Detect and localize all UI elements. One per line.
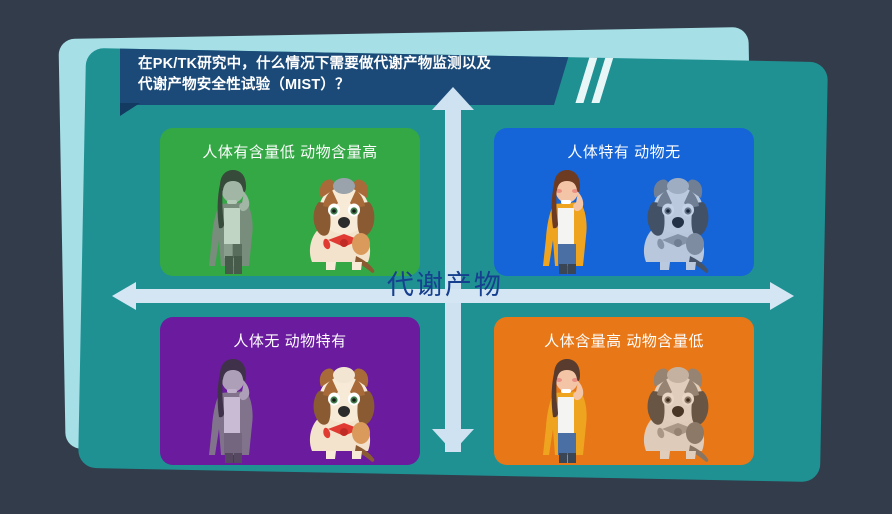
card-inner-content: 在PK/TK研究中，什么情况下需要做代谢产物监测以及 代谢产物安全性试验（MIS… — [82, 55, 824, 475]
quadrant-top-right[interactable]: 人体特有 动物无 — [494, 128, 754, 276]
animal-figure-icon — [292, 170, 396, 274]
quadrant-bottom-left-label: 人体无 动物特有 — [160, 330, 420, 351]
quadrant-bottom-right[interactable]: 人体含量高 动物含量低 — [494, 317, 754, 465]
human-figure-icon — [194, 357, 272, 465]
human-figure-icon — [528, 357, 606, 465]
human-figure-icon — [528, 168, 606, 276]
human-figure-icon — [194, 168, 272, 276]
quadrant-top-left-label: 人体有含量低 动物含量高 — [160, 141, 420, 162]
quadrant-bottom-left[interactable]: 人体无 动物特有 — [160, 317, 420, 465]
quadrant-top-left[interactable]: 人体有含量低 动物含量高 — [160, 128, 420, 276]
slide-canvas: 在PK/TK研究中，什么情况下需要做代谢产物监测以及 代谢产物安全性试验（MIS… — [0, 0, 892, 514]
animal-figure-icon — [626, 359, 730, 463]
center-axis-label: 代谢产物 — [387, 263, 503, 302]
arrow-right-icon — [770, 282, 794, 310]
quadrant-grid: 人体有含量低 动物含量高 — [82, 55, 824, 475]
quadrant-bottom-right-label: 人体含量高 动物含量低 — [494, 330, 754, 351]
animal-figure-icon — [292, 359, 396, 463]
animal-figure-icon — [626, 170, 730, 274]
arrow-left-icon — [112, 282, 136, 310]
quadrant-top-right-label: 人体特有 动物无 — [494, 141, 754, 162]
card-main-layer: 在PK/TK研究中，什么情况下需要做代谢产物监测以及 代谢产物安全性试验（MIS… — [78, 48, 828, 482]
arrow-down-icon — [432, 429, 474, 452]
arrow-up-icon — [432, 87, 474, 110]
